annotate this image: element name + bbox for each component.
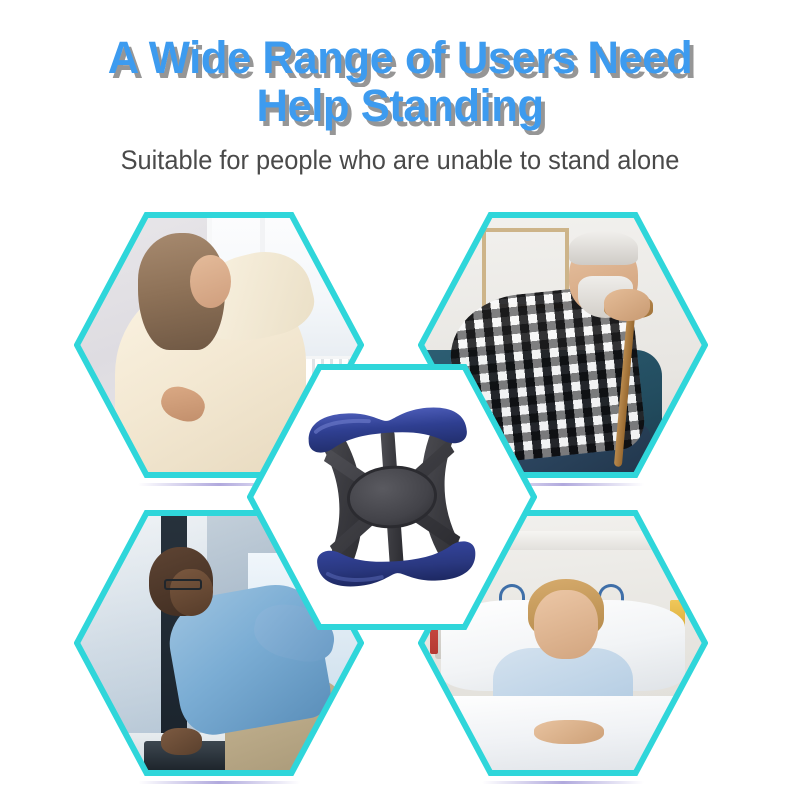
product-standing-assist-handle <box>276 386 508 609</box>
hex-tile-product <box>247 364 537 630</box>
hex-product-mask <box>247 364 537 630</box>
person-face <box>190 255 231 308</box>
person-hands-on-cane <box>604 289 650 321</box>
hex-underline <box>482 781 644 784</box>
person-glasses <box>164 579 202 590</box>
person-hand-on-desk <box>161 728 202 755</box>
person-hair <box>569 231 639 266</box>
product-illustration <box>276 386 508 609</box>
infographic-page: A Wide Range of Users Need Help Standing… <box>0 0 800 800</box>
hexagon-grid <box>0 0 800 800</box>
hex-underline <box>138 781 300 784</box>
person-hands <box>534 720 604 744</box>
person-face <box>534 590 598 659</box>
